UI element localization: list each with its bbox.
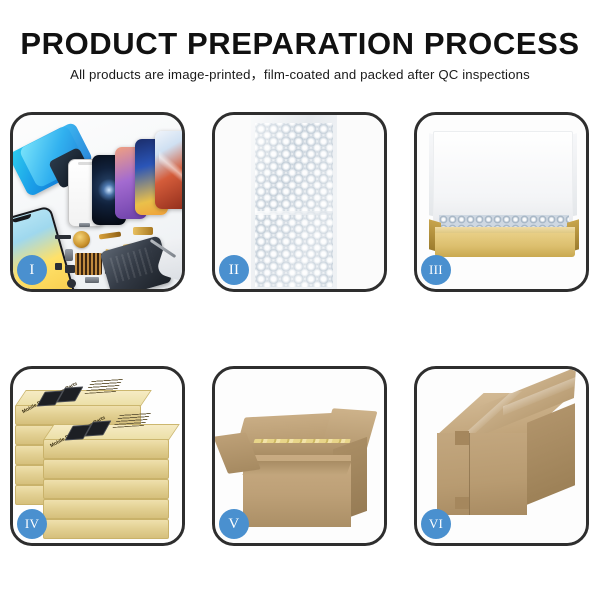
- page-header: PRODUCT PREPARATION PROCESS All products…: [0, 0, 600, 84]
- step-panel-3[interactable]: III: [414, 112, 589, 292]
- gold-connector-part-icon: [133, 227, 153, 235]
- step-badge-3: III: [421, 255, 451, 285]
- phone-red-display-icon: [155, 131, 182, 209]
- retail-box-f1: [43, 459, 169, 479]
- retail-box-f4: [43, 519, 169, 539]
- step-badge-1: I: [17, 255, 47, 285]
- step-panel-2[interactable]: II: [212, 112, 387, 292]
- plastic-gloss-icon: [251, 115, 337, 289]
- process-steps-grid: I II III: [10, 112, 590, 546]
- inner-box-tray-front-icon: [435, 233, 575, 257]
- step-panel-5[interactable]: V: [212, 366, 387, 546]
- carton-handle-slot-bottom-icon: [455, 497, 469, 509]
- small-part-icon-8: [79, 223, 90, 227]
- step-badge-2: II: [219, 255, 249, 285]
- step-panel-1[interactable]: I: [10, 112, 185, 292]
- carton-front-seam-icon: [469, 433, 470, 515]
- inner-box-white-lid-icon: [433, 131, 573, 225]
- carton-handle-slot-top-icon: [455, 431, 469, 445]
- small-part-icon-3: [65, 265, 75, 273]
- page-subtitle: All products are image-printed，film-coat…: [0, 66, 600, 84]
- small-part-icon-2: [65, 249, 73, 261]
- small-part-icon-6: [85, 277, 99, 283]
- retail-box-f2: [43, 479, 169, 499]
- speaker-coil-part-icon: [73, 231, 90, 248]
- ic-chip-grid-part-icon: [75, 253, 102, 275]
- step-panel-4[interactable]: Mobile Phone Spare Parts Mobile Phone Sp…: [10, 366, 185, 546]
- small-part-icon-1: [55, 235, 71, 239]
- retail-box-f3: [43, 499, 169, 519]
- step-badge-5: V: [219, 509, 249, 539]
- sealed-carton-front-icon: [437, 433, 527, 515]
- small-part-icon-9: [55, 263, 62, 270]
- page-title: PRODUCT PREPARATION PROCESS: [0, 27, 600, 61]
- step-badge-6: VI: [421, 509, 451, 539]
- step-badge-4: IV: [17, 509, 47, 539]
- step-panel-6[interactable]: VI: [414, 366, 589, 546]
- camera-lens-part-icon: [67, 279, 76, 288]
